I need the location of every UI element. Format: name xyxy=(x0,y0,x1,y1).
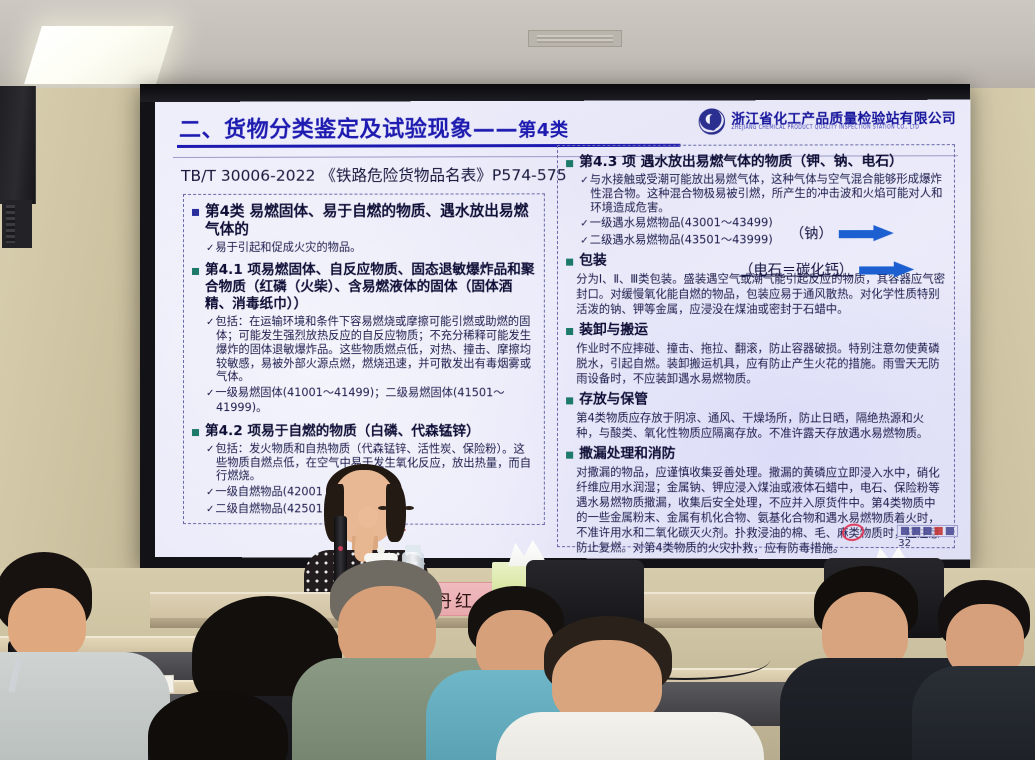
left-heading-2-text: 第4.1 项易燃固体、自反应物质、固态退敏爆炸品和聚合物质（红磷（火柴）、含易燃… xyxy=(205,262,536,313)
audience-member xyxy=(520,616,740,760)
right-heading-1-text: 第4.3 项 遇水放出易燃气体的物质（钾、钠、电石） xyxy=(579,153,903,171)
right-heading-4: 存放与保管 xyxy=(566,391,946,408)
standard-reference: TB/T 30006-2022 《铁路危险货物品名表》P574-575 xyxy=(181,163,567,186)
speaker-bracket xyxy=(2,200,32,248)
right-heading-3-text: 装卸与搬运 xyxy=(579,322,648,339)
bullet-square-icon xyxy=(192,429,199,436)
arrow-right-icon xyxy=(839,227,896,240)
right-heading-1: 第4.3 项 遇水放出易燃气体的物质（钾、钠、电石） xyxy=(566,153,946,171)
slide-title-tail: 第4类 xyxy=(518,120,569,141)
company-logo: 浙江省化工产品质量检验站有限公司 ZHEJIANG CHEMICAL PRODU… xyxy=(699,108,956,135)
company-logo-icon xyxy=(699,108,725,134)
right-heading-2-text: 包装 xyxy=(579,253,606,270)
audience-shoulders xyxy=(496,712,764,760)
left-heading-1: 第4类 易燃固体、易于自燃的物质、遇水放出易燃气体的 xyxy=(192,202,536,239)
ppt-presenter-toolbar[interactable] xyxy=(897,525,958,537)
left-heading-1-text: 第4类 易燃固体、易于自燃的物质、遇水放出易燃气体的 xyxy=(205,202,536,239)
classroom-scene: 二、货物分类鉴定及试验现象——第4类 浙江省化工产品质量检验站有限公司 ZHEJ… xyxy=(0,0,1035,760)
audience-member xyxy=(928,580,1035,760)
right-para-4: 第4类物质应存放于阴凉、通风、干燥场所，防止日晒，隔绝热源和火种，与酸类、氧化性… xyxy=(576,410,946,441)
right-sub-1: 与水接触或受潮可能放出易燃气体，这种气体与空气混合能够形成爆炸性混合物。这种混合… xyxy=(580,172,946,214)
audience-shoulders xyxy=(912,666,1035,760)
left-sub-2: 包括：在运输环境和条件下容易燃烧或摩擦可能引燃或助燃的固体；可能发生强烈放热反应… xyxy=(206,315,536,384)
wall-speaker xyxy=(0,86,36,204)
right-heading-4-text: 存放与保管 xyxy=(579,391,648,408)
company-name-cn: 浙江省化工产品质量检验站有限公司 xyxy=(731,111,956,126)
bullet-square-icon xyxy=(192,209,199,216)
callout-sodium-label: （钠） xyxy=(790,223,833,243)
left-heading-2: 第4.1 项易燃固体、自反应物质、固态退敏爆炸品和聚合物质（红磷（火柴）、含易燃… xyxy=(192,262,536,313)
right-para-5: 对撒漏的物品，应谨慎收集妥善处理。撒漏的黄磷应立即浸入水中，硝化纤维应用水润湿；… xyxy=(576,465,946,557)
more-options-icon[interactable] xyxy=(946,527,954,535)
wall-right xyxy=(962,88,1035,588)
bullet-square-icon xyxy=(566,160,573,167)
right-heading-5: 撒漏处理和消防 xyxy=(566,446,946,464)
arrow-right-icon xyxy=(859,263,916,276)
bullet-square-icon xyxy=(566,259,573,266)
slide-title-main: 二、货物分类鉴定及试验现象—— xyxy=(179,117,518,143)
right-heading-3: 装卸与搬运 xyxy=(566,322,946,339)
highlight-icon[interactable] xyxy=(935,527,943,535)
bullet-square-icon xyxy=(566,452,573,459)
slide-title: 二、货物分类鉴定及试验现象——第4类 xyxy=(179,111,569,144)
presenter-hand xyxy=(358,506,378,528)
grid-icon[interactable] xyxy=(923,527,931,535)
presenter-hair-right xyxy=(386,484,406,542)
right-para-3: 作业时不应摔碰、撞击、拖拉、翻滚，防止容器破损。特别注意勿使黄磷脱水，引起自燃。… xyxy=(576,341,946,387)
company-name-en: ZHEJIANG CHEMICAL PRODUCT QUALITY INSPEC… xyxy=(731,126,956,133)
bullet-square-icon xyxy=(566,328,573,335)
microphone-led-icon xyxy=(338,546,343,551)
ceiling-air-vent xyxy=(528,30,622,47)
left-heading-3: 第4.2 项易于自燃的物质（白磷、代森锰锌） xyxy=(192,423,536,440)
mug-knob xyxy=(377,546,385,554)
bullet-square-icon xyxy=(192,268,199,275)
callout-sodium: （钠） xyxy=(790,223,896,243)
left-heading-3-text: 第4.2 项易于自燃的物质（白磷、代森锰锌） xyxy=(205,423,480,440)
callout-carbide: （电石＝碳化钙） xyxy=(739,259,916,279)
company-logo-texts: 浙江省化工产品质量检验站有限公司 ZHEJIANG CHEMICAL PRODU… xyxy=(731,111,956,131)
slide-page-number: 32 xyxy=(898,538,911,549)
callout-carbide-label: （电石＝碳化钙） xyxy=(739,259,853,279)
audience-head xyxy=(8,588,86,660)
right-heading-5-text: 撒漏处理和消防 xyxy=(579,446,675,463)
pen-icon[interactable] xyxy=(901,527,909,535)
slide-right-column: 第4.3 项 遇水放出易燃气体的物质（钾、钠、电石） 与水接触或受潮可能放出易燃… xyxy=(557,144,955,548)
pointer-icon[interactable] xyxy=(912,527,920,535)
left-sub-3: 一级易燃固体(41001～41499)；二级易燃固体(41501～41999)。 xyxy=(206,386,536,416)
presentation-slide: 二、货物分类鉴定及试验现象——第4类 浙江省化工产品质量检验站有限公司 ZHEJ… xyxy=(155,100,970,560)
audience-hair xyxy=(148,690,288,760)
ceiling-light-panel xyxy=(24,26,174,84)
audience-member xyxy=(112,690,342,760)
bullet-square-icon xyxy=(566,397,573,404)
left-sub-1: 易于引起和促成火灾的物品。 xyxy=(206,241,536,256)
